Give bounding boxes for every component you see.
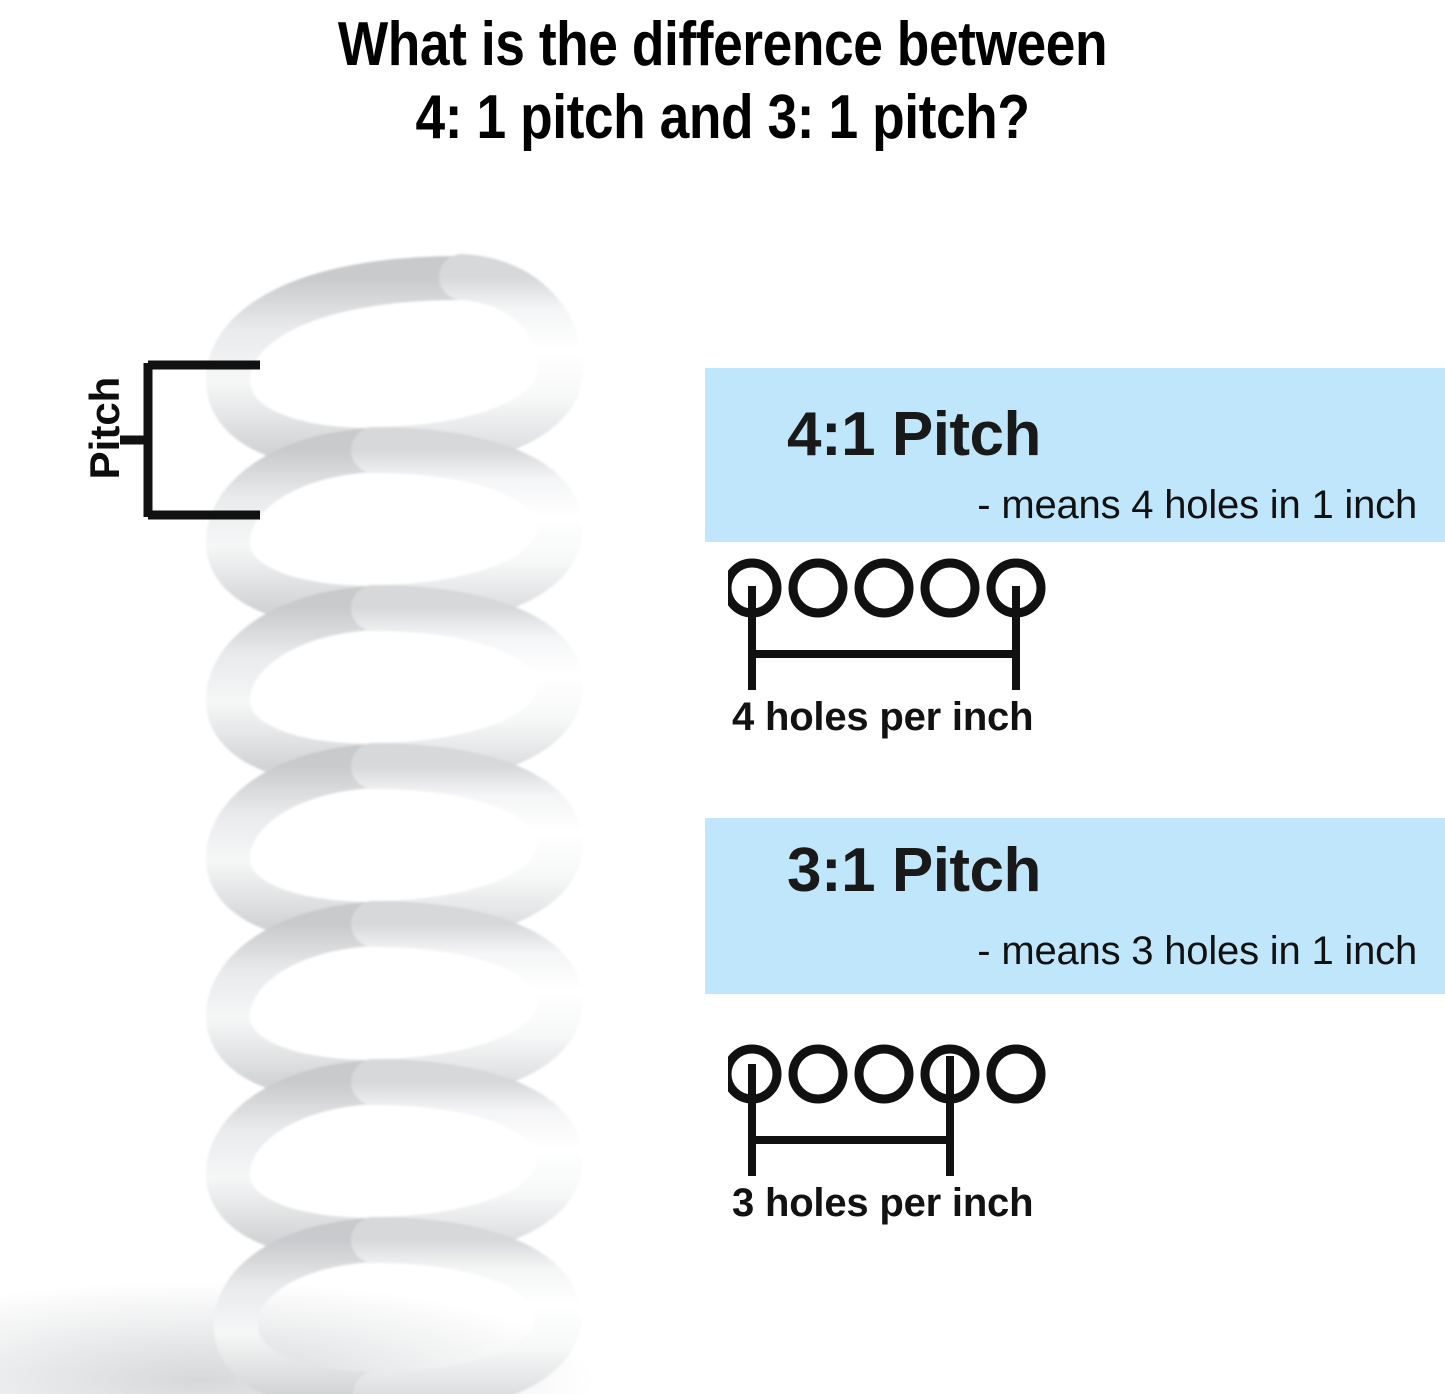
pitch-bracket-icon bbox=[120, 350, 280, 530]
hole-circle bbox=[991, 1049, 1041, 1099]
hole-circle bbox=[793, 563, 843, 613]
holes-diagram-3-1: 3 holes per inch bbox=[728, 1042, 1068, 1242]
holes-row-4-1-icon bbox=[728, 556, 1068, 696]
caption-4-holes-per-inch: 4 holes per inch bbox=[732, 696, 1033, 738]
hole-circle bbox=[925, 563, 975, 613]
hole-circle bbox=[859, 563, 909, 613]
title-line-1: What is the difference between bbox=[101, 8, 1344, 81]
page-title: What is the difference between 4: 1 pitc… bbox=[0, 8, 1445, 154]
means-text-4-1: - means 4 holes in 1 inch bbox=[977, 484, 1417, 526]
title-line-2: 4: 1 pitch and 3: 1 pitch? bbox=[101, 81, 1344, 154]
heading-4-1-pitch: 4:1 Pitch bbox=[787, 404, 1041, 466]
holes-row-3-1-icon bbox=[728, 1042, 1068, 1182]
means-text-3-1: - means 3 holes in 1 inch bbox=[977, 930, 1417, 972]
holes-diagram-4-1: 4 holes per inch bbox=[728, 556, 1068, 756]
heading-3-1-pitch: 3:1 Pitch bbox=[787, 840, 1041, 902]
info-box-4-1-pitch: 4:1 Pitch - means 4 holes in 1 inch bbox=[705, 368, 1445, 542]
caption-3-holes-per-inch: 3 holes per inch bbox=[732, 1182, 1033, 1224]
infographic-page: What is the difference between 4: 1 pitc… bbox=[0, 0, 1445, 1394]
hole-circle bbox=[859, 1049, 909, 1099]
pitch-measurement-group: Pitch bbox=[60, 350, 280, 550]
info-box-3-1-pitch: 3:1 Pitch - means 3 holes in 1 inch bbox=[705, 818, 1445, 994]
hole-circle bbox=[793, 1049, 843, 1099]
